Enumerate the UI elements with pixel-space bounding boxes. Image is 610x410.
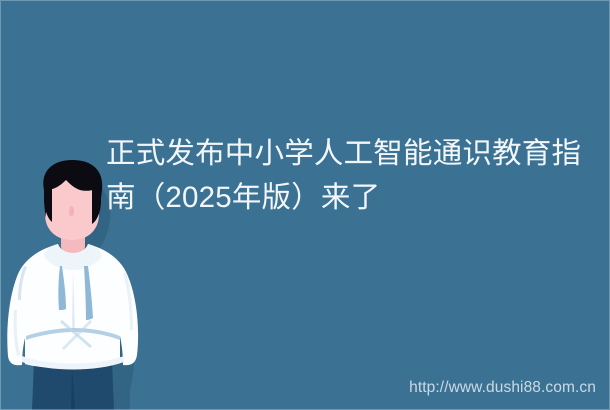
- poster-canvas: 正式发布中小学人工智能通识教育指南（2025年版）来了 http://www.d…: [0, 0, 610, 410]
- nose: [69, 206, 74, 216]
- site-watermark: http://www.dushi88.com.cn: [409, 379, 596, 397]
- page-title: 正式发布中小学人工智能通识教育指南（2025年版）来了: [106, 132, 602, 220]
